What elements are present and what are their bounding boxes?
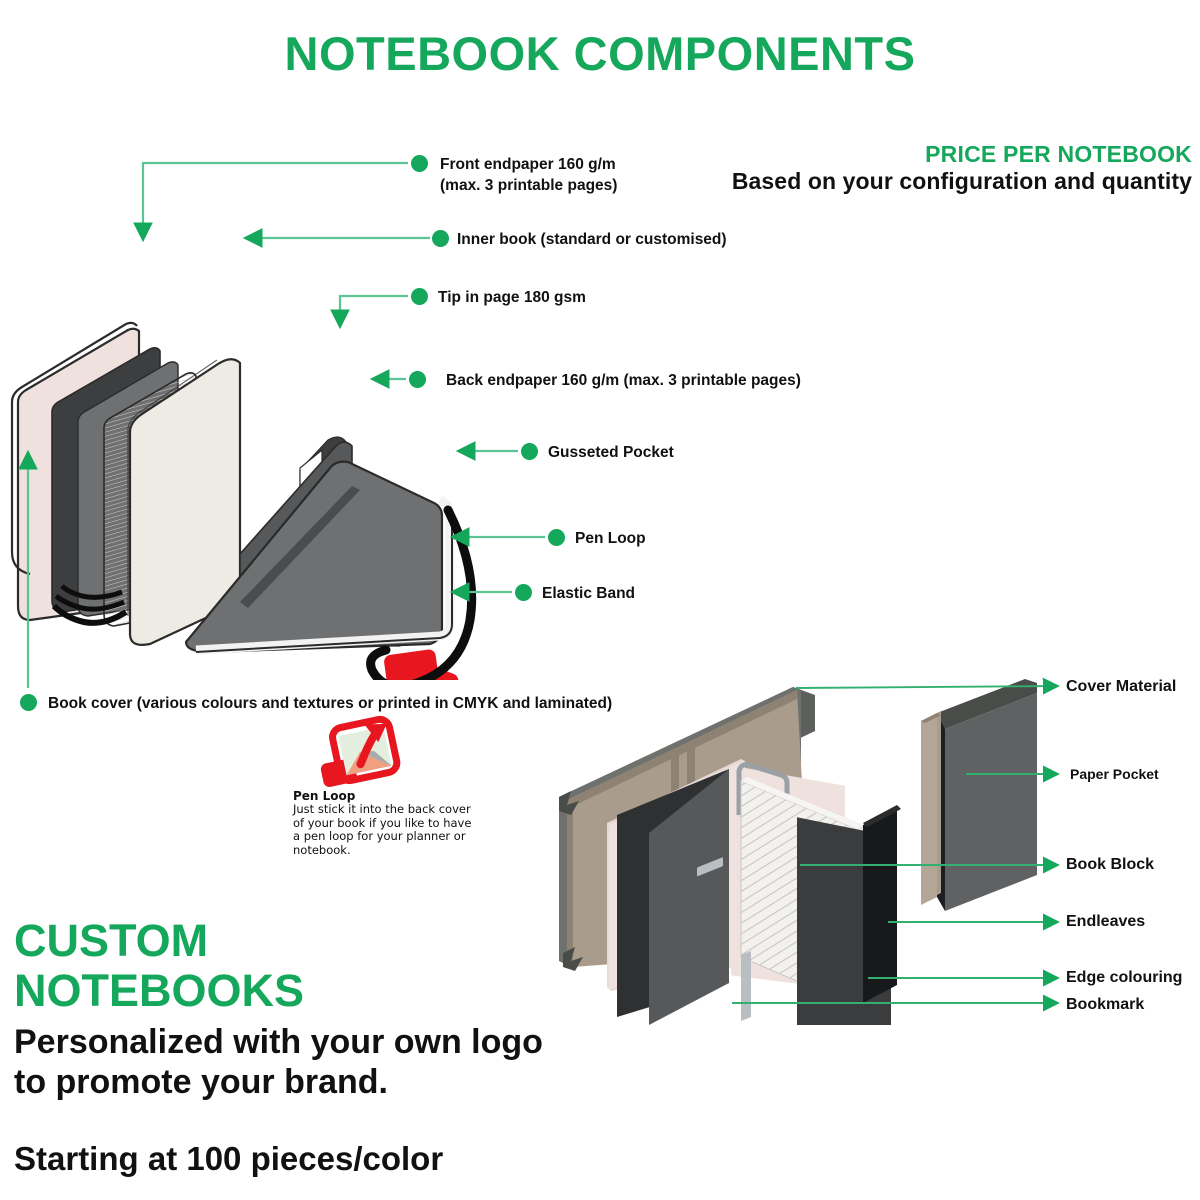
callout-front-endpaper-line2: (max. 3 printable pages) (440, 175, 617, 196)
exploded-notebook-illustration (545, 665, 1065, 1025)
dot-inner-book (432, 230, 449, 247)
dot-pen-loop (548, 529, 565, 546)
callout-inner-book: Inner book (standard or customised) (457, 229, 727, 250)
label-bookmark: Bookmark (1066, 996, 1144, 1014)
callout-back-endpaper: Back endpaper 160 g/m (max. 3 printable … (446, 370, 801, 391)
callout-book-cover: Book cover (various colours and textures… (48, 693, 612, 714)
dot-gusseted-pocket (521, 443, 538, 460)
callout-tip-in-page: Tip in page 180 gsm (438, 287, 586, 308)
label-paper-pocket: Paper Pocket (1070, 766, 1159, 782)
dot-elastic-band (515, 584, 532, 601)
page-title: NOTEBOOK COMPONENTS (0, 26, 1200, 81)
label-book-block: Book Block (1066, 856, 1154, 874)
pen-loop-note: Pen Loop Just stick it into the back cov… (293, 790, 478, 857)
dot-back-endpaper (409, 371, 426, 388)
custom-headline-line2: NOTEBOOKS (14, 966, 304, 1016)
tagline-line2: to promote your brand. (14, 1062, 388, 1102)
right-cover-material (921, 679, 1037, 911)
price-per-notebook-title: PRICE PER NOTEBOOK (925, 141, 1192, 168)
custom-headline-line1: CUSTOM (14, 916, 208, 966)
callout-front-endpaper: Front endpaper 160 g/m (max. 3 printable… (440, 154, 617, 196)
price-per-notebook-subtitle: Based on your configuration and quantity (732, 168, 1192, 195)
dot-tip-in-page (411, 288, 428, 305)
pen-loop-note-heading: Pen Loop (293, 789, 355, 803)
label-cover-material: Cover Material (1066, 678, 1176, 696)
tagline-line1: Personalized with your own logo (14, 1022, 543, 1062)
edge-colouring-sheet (797, 805, 901, 1025)
pen-loop-note-body: Just stick it into the back cover of you… (293, 802, 471, 856)
dot-book-cover (20, 694, 37, 711)
starting-quantity-text: Starting at 100 pieces/color (14, 1140, 443, 1178)
label-endleaves: Endleaves (1066, 913, 1145, 931)
pen-loop-sticker-icon (300, 712, 420, 792)
callout-pen-loop: Pen Loop (575, 528, 646, 549)
label-edge-colouring: Edge colouring (1066, 969, 1182, 987)
callout-elastic-band: Elastic Band (542, 583, 635, 604)
callout-gusseted-pocket: Gusseted Pocket (548, 442, 674, 463)
callout-front-endpaper-line1: Front endpaper 160 g/m (440, 154, 617, 175)
bookmark-ribbon (741, 951, 751, 1021)
dot-front-endpaper (411, 155, 428, 172)
